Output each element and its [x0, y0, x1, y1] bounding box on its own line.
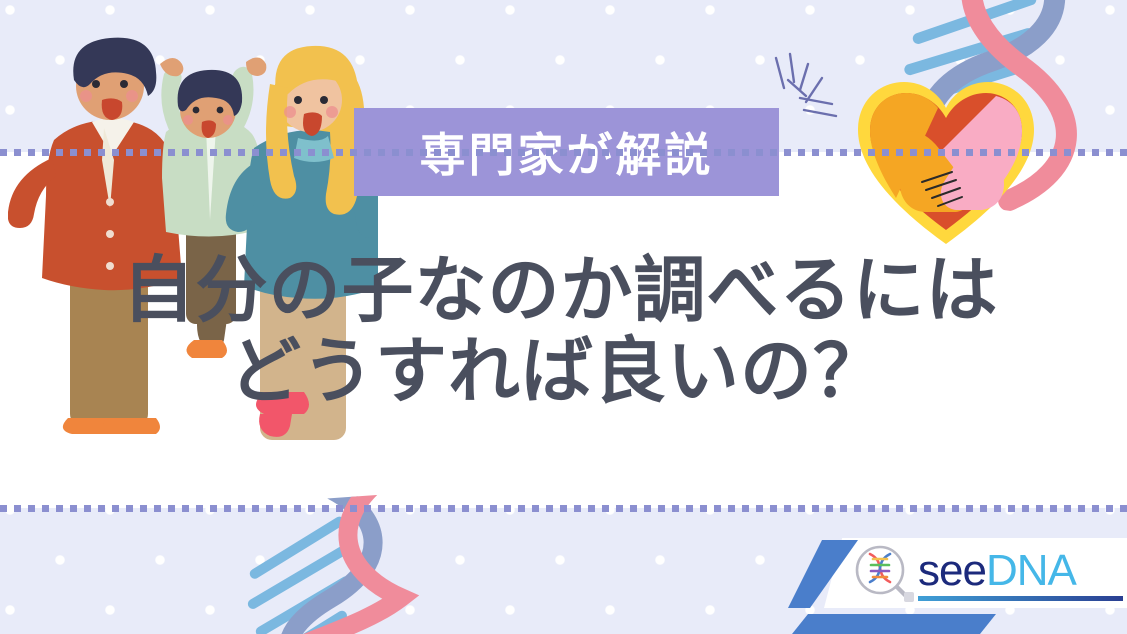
- logo-dna-text: DNA: [986, 546, 1076, 595]
- dna-magnifier-icon: [854, 544, 916, 606]
- logo-see-text: see: [918, 546, 986, 595]
- heart-hands-emblem: [856, 78, 1036, 250]
- seedna-logo[interactable]: seeDNA: [788, 534, 1127, 634]
- logo-wordmark: seeDNA: [918, 546, 1076, 596]
- article-banner: 専門家が解説 自分の子なのか調べるには どうすれば良いの？: [0, 0, 1127, 634]
- headline-line-1: 自分の子なのか調べるには: [0, 250, 1127, 331]
- dashed-rule-bottom: [0, 505, 1127, 512]
- headline-line-2: どうすれば良いの？: [0, 331, 1127, 412]
- dna-helix-bottom-left: [226, 491, 448, 634]
- logo-underline: [918, 596, 1123, 601]
- page-title: 自分の子なのか調べるには どうすれば良いの？: [0, 250, 1127, 411]
- dashed-rule-top: [0, 149, 1127, 156]
